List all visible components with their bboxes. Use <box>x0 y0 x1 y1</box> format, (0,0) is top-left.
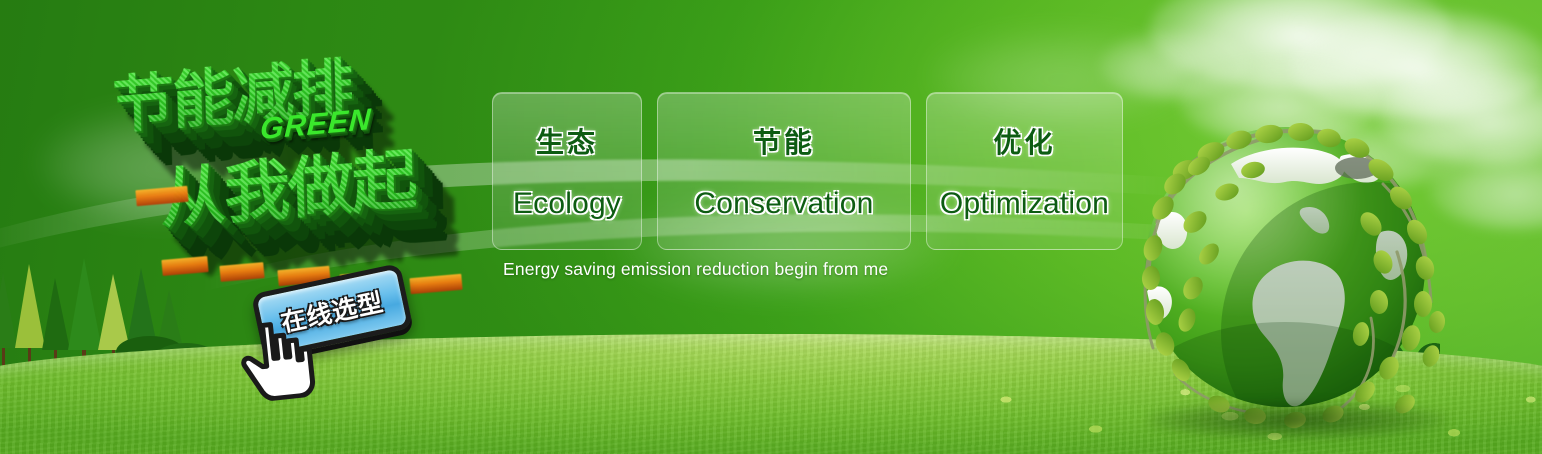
ember-glow <box>161 256 208 276</box>
promo-banner: 节能减排 GREEN 从我做起 在线选型 生态 Ecology 节能 Conse… <box>0 0 1542 454</box>
headline-line-2: 从我做起 <box>159 126 417 242</box>
feature-card-row: 生态 Ecology 节能 Conservation 优化 Optimizati… <box>492 92 1123 250</box>
green-earth-globe <box>1135 112 1457 434</box>
feature-card-conservation[interactable]: 节能 Conservation <box>657 92 911 250</box>
globe-shadow <box>1147 400 1447 440</box>
feature-card-cn-label: 节能 <box>753 121 815 161</box>
ember-glow <box>409 274 462 294</box>
feature-card-cn-label: 生态 <box>536 121 598 161</box>
feature-card-en-label: Optimization <box>940 187 1109 221</box>
cloud-shape <box>1150 0 1450 90</box>
globe-graphic <box>1135 112 1457 434</box>
feature-card-cn-label: 优化 <box>993 121 1055 161</box>
tagline-text: Energy saving emission reduction begin f… <box>503 259 888 280</box>
cloud-shape <box>1290 10 1542 120</box>
ember-glow <box>219 262 264 282</box>
feature-card-ecology[interactable]: 生态 Ecology <box>492 92 642 250</box>
feature-card-en-label: Conservation <box>694 187 873 221</box>
headline-artwork: 节能减排 GREEN 从我做起 <box>100 40 490 270</box>
feature-card-en-label: Ecology <box>513 187 621 221</box>
feature-card-optimization[interactable]: 优化 Optimization <box>926 92 1123 250</box>
cloud-shape <box>1100 30 1250 100</box>
